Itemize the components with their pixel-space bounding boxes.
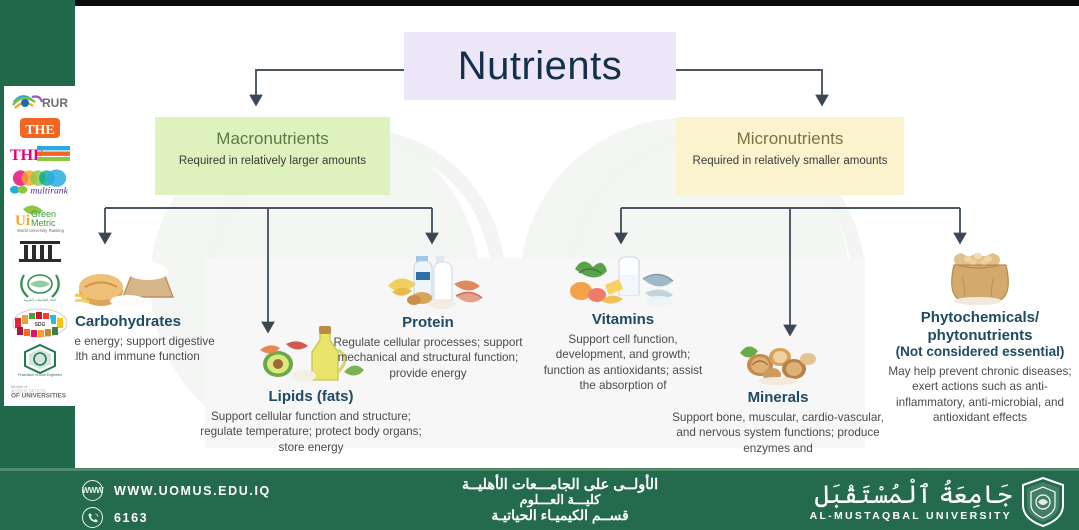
micronutrients-subtitle: Required in relatively smaller amounts: [676, 154, 904, 170]
node-micronutrients[interactable]: Micronutrients Required in relatively sm…: [676, 117, 904, 195]
footer-brand-english: AL-MUSTAQBAL UNIVERSITY: [810, 510, 1012, 522]
sdg-wheel-logo: SDG: [9, 308, 71, 338]
columns-emblem-logo: [9, 238, 71, 264]
svg-text:OF UNIVERSITIES: OF UNIVERSITIES: [11, 393, 67, 399]
arab-engineers-logo: Federation of Arab Engineers: [9, 343, 71, 377]
node-protein[interactable]: Protein Regulate cellular processes; sup…: [330, 248, 526, 381]
node-nutrients-label: Nutrients: [458, 46, 623, 86]
svg-text:THE: THE: [25, 123, 55, 138]
arab-universities-wreath-logo: اتحاد الجامعات العربية: [9, 269, 71, 303]
phone-icon: [82, 507, 103, 528]
footer-phone-text: 6163: [114, 511, 148, 525]
u-multirank-logo: multirank: [9, 168, 71, 198]
footer-website-text: WWW.UOMUS.EDU.IQ: [114, 484, 271, 498]
page-footer: WWW WWW.UOMUS.EDU.IQ 6163 الأولــى على ا…: [0, 468, 1079, 530]
phytochemicals-name: Phytochemicals/ phytonutrients: [884, 309, 1076, 344]
footer-brand-arabic: جَامِعَةُ ٱلْمُسْتَقْبَل: [810, 483, 1012, 508]
footer-arabic-line-2: كليـــة العـــلوم: [370, 492, 750, 508]
svg-text:SDG: SDG: [34, 322, 45, 328]
protein-name: Protein: [330, 314, 526, 332]
vegetables-milk-icon: [537, 245, 709, 307]
footer-arabic-block: الأولــى على الجامـــعات الأهليــة كليــ…: [370, 477, 750, 524]
footer-phone-row[interactable]: 6163: [82, 507, 271, 528]
minerals-description: Support bone, muscular, cardio-vascular,…: [662, 410, 894, 457]
the-ranking-logo: THE: [9, 117, 71, 139]
footer-brand-block: جَامِعَةُ ٱلْمُسْتَقْبَل AL-MUSTAQBAL UN…: [810, 477, 1065, 527]
phytochemicals-name-line2: (Not considered essential): [884, 344, 1076, 360]
lipids-name: Lipids (fats): [196, 388, 426, 406]
micronutrients-title: Micronutrients: [676, 129, 904, 149]
svg-text:Federation of Arab Engineers: Federation of Arab Engineers: [17, 373, 61, 377]
footer-arabic-line-1: الأولــى على الجامـــعات الأهليــة: [370, 477, 750, 493]
ui-greenmetric-logo: Ui Green Metric World University Ranking: [9, 203, 71, 233]
protein-description: Regulate cellular processes; support mec…: [330, 335, 526, 382]
milk-meat-icon: [330, 248, 526, 310]
svg-text:Metric: Metric: [31, 218, 56, 228]
footer-brand-text: جَامِعَةُ ٱلْمُسْتَقْبَل AL-MUSTAQBAL UN…: [810, 483, 1012, 522]
svg-text:Ui: Ui: [15, 213, 30, 229]
the-impact-ranking-logo: THE: [9, 144, 71, 163]
vitamins-name: Vitamins: [537, 311, 709, 329]
svg-text:اتحاد الجامعات العربية: اتحاد الجامعات العربية: [23, 297, 55, 302]
slide-canvas: Nutrients Macronutrients Required in rel…: [0, 0, 1079, 530]
svg-text:RUR: RUR: [42, 96, 68, 110]
node-phytochemicals[interactable]: Phytochemicals/ phytonutrients (Not cons…: [884, 243, 1076, 426]
node-nutrients[interactable]: Nutrients: [404, 32, 676, 100]
footer-contact-block: WWW WWW.UOMUS.EDU.IQ 6163: [82, 480, 271, 530]
nuts-seeds-icon: [662, 335, 894, 385]
university-crest-logo: [1021, 477, 1065, 527]
phytochemicals-description: May help prevent chronic diseases; exert…: [884, 364, 1076, 426]
lipids-description: Support cellular function and structure;…: [196, 409, 426, 456]
minerals-name: Minerals: [662, 389, 894, 407]
globe-www-icon: WWW: [82, 480, 103, 501]
macronutrients-subtitle: Required in relatively larger amounts: [155, 154, 390, 170]
rur-ranking-logo: RUR: [9, 90, 71, 112]
node-minerals[interactable]: Minerals Support bone, muscular, cardio-…: [662, 335, 894, 456]
grain-sack-icon: [884, 243, 1076, 305]
association-of-universities-logo: Member of ASSOCIATION OF UNIVERSITIES: [9, 382, 71, 398]
footer-arabic-line-3: قســم الكيميـاء الحياتيـة: [370, 507, 750, 524]
accreditation-badge-rail: RUR THE THE: [4, 86, 75, 406]
node-macronutrients[interactable]: Macronutrients Required in relatively la…: [155, 117, 390, 195]
footer-website-row[interactable]: WWW WWW.UOMUS.EDU.IQ: [82, 480, 271, 501]
macronutrients-title: Macronutrients: [155, 129, 390, 149]
svg-text:multirank: multirank: [30, 186, 68, 197]
svg-text:World University Ranking: World University Ranking: [17, 228, 65, 233]
